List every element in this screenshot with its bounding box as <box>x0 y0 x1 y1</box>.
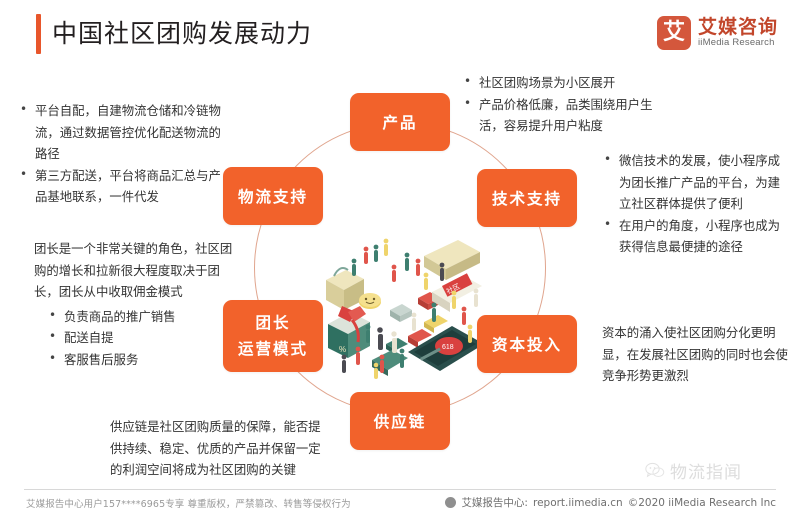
isometric-community-group-buying-illustration: % <box>312 234 488 382</box>
text-block-capital: 资本的涌入使社区团购分化更明显，在发展社区团购的同时也会使竞争形势更激烈 <box>602 322 798 387</box>
center-illustration: % <box>312 234 488 382</box>
circular-diagram: % <box>250 112 550 428</box>
logo-name-cn: 艾媒咨询 <box>698 17 778 37</box>
footer-divider <box>24 489 776 490</box>
svg-text:%: % <box>339 345 346 354</box>
title-accent-bar <box>36 14 41 54</box>
badge-product[interactable]: 产品 <box>350 93 450 151</box>
wechat-icon <box>645 462 665 479</box>
logo-mark-icon: 艾 <box>657 16 691 50</box>
watermark: 物流指闻 <box>645 458 742 483</box>
badge-label: 技术支持 <box>492 187 562 209</box>
badge-label: 物流支持 <box>238 185 308 207</box>
badge-supply-chain[interactable]: 供应链 <box>350 392 450 450</box>
text-block-leader: 团长是一个非常关键的角色，社区团购的增长和拉新很大程度取决于团长，团长从中收取佣… <box>34 238 239 370</box>
list-item: 微信技术的发展，使小程序成为团长推广产品的平台，为建立社区群体提供了便利 <box>602 150 790 215</box>
list-item: 负责商品的推广销售 <box>34 306 239 328</box>
logo-text: 艾媒咨询 iiMedia Research <box>698 17 778 49</box>
badge-tech-support[interactable]: 技术支持 <box>477 169 577 227</box>
logo-name-en: iiMedia Research <box>698 37 778 49</box>
leader-list: 负责商品的推广销售 配送自提 客服售后服务 <box>34 306 239 371</box>
brand-logo: 艾 艾媒咨询 iiMedia Research <box>657 16 778 50</box>
badge-label: 供应链 <box>374 410 427 432</box>
list-item: 在用户的角度，小程序也成为获得信息最便捷的途径 <box>602 215 790 258</box>
leader-paragraph: 团长是一个非常关键的角色，社区团购的增长和拉新很大程度取决于团长，团长从中收取佣… <box>34 238 239 303</box>
badge-capital-investment[interactable]: 资本投入 <box>477 315 577 373</box>
footer-copyright: ©2020 iiMedia Research Inc <box>628 497 776 509</box>
tech-list: 微信技术的发展，使小程序成为团长推广产品的平台，为建立社区群体提供了便利 在用户… <box>602 150 790 258</box>
text-block-logistics: 平台自配，自建物流仓储和冷链物流，通过数据管控优化配送物流的路径 第三方配送，平… <box>18 100 233 208</box>
footer-url[interactable]: report.iimedia.cn <box>533 497 623 509</box>
capital-paragraph: 资本的涌入使社区团购分化更明显，在发展社区团购的同时也会使竞争形势更激烈 <box>602 322 798 387</box>
list-item: 配送自提 <box>34 327 239 349</box>
logistics-list: 平台自配，自建物流仓储和冷链物流，通过数据管控优化配送物流的路径 第三方配送，平… <box>18 100 233 208</box>
footer-source: 艾媒报告中心: report.iimedia.cn ©2020 iiMedia … <box>445 495 776 510</box>
svg-text:618: 618 <box>442 344 454 351</box>
badge-label-secondary: 运营模式 <box>238 336 308 362</box>
badge-label: 资本投入 <box>492 333 562 355</box>
footer-license-text: 艾媒报告中心用户157****6965专享 尊重版权，严禁篡改、转售等侵权行为 <box>26 496 351 510</box>
badge-leader-operation[interactable]: 团长 运营模式 <box>223 300 323 372</box>
footer-label: 艾媒报告中心: <box>461 495 528 510</box>
watermark-text: 物流指闻 <box>670 458 742 483</box>
badge-label: 团长 <box>255 310 290 336</box>
footer-logo-icon <box>445 497 456 508</box>
list-item: 社区团购场景为小区展开 <box>462 72 667 94</box>
text-block-tech: 微信技术的发展，使小程序成为团长推广产品的平台，为建立社区群体提供了便利 在用户… <box>602 150 790 258</box>
list-item: 第三方配送，平台将商品汇总与产品基地联系，一件代发 <box>18 165 233 208</box>
list-item: 平台自配，自建物流仓储和冷链物流，通过数据管控优化配送物流的路径 <box>18 100 233 165</box>
header: 中国社区团购发展动力 艾 艾媒咨询 iiMedia Research <box>0 0 800 72</box>
page-title: 中国社区团购发展动力 <box>52 14 312 54</box>
slide-canvas: 中国社区团购发展动力 艾 艾媒咨询 iiMedia Research 平台自配，… <box>0 0 800 519</box>
list-item: 客服售后服务 <box>34 349 239 371</box>
badge-label: 产品 <box>382 111 417 133</box>
badge-logistics-support[interactable]: 物流支持 <box>223 167 323 225</box>
